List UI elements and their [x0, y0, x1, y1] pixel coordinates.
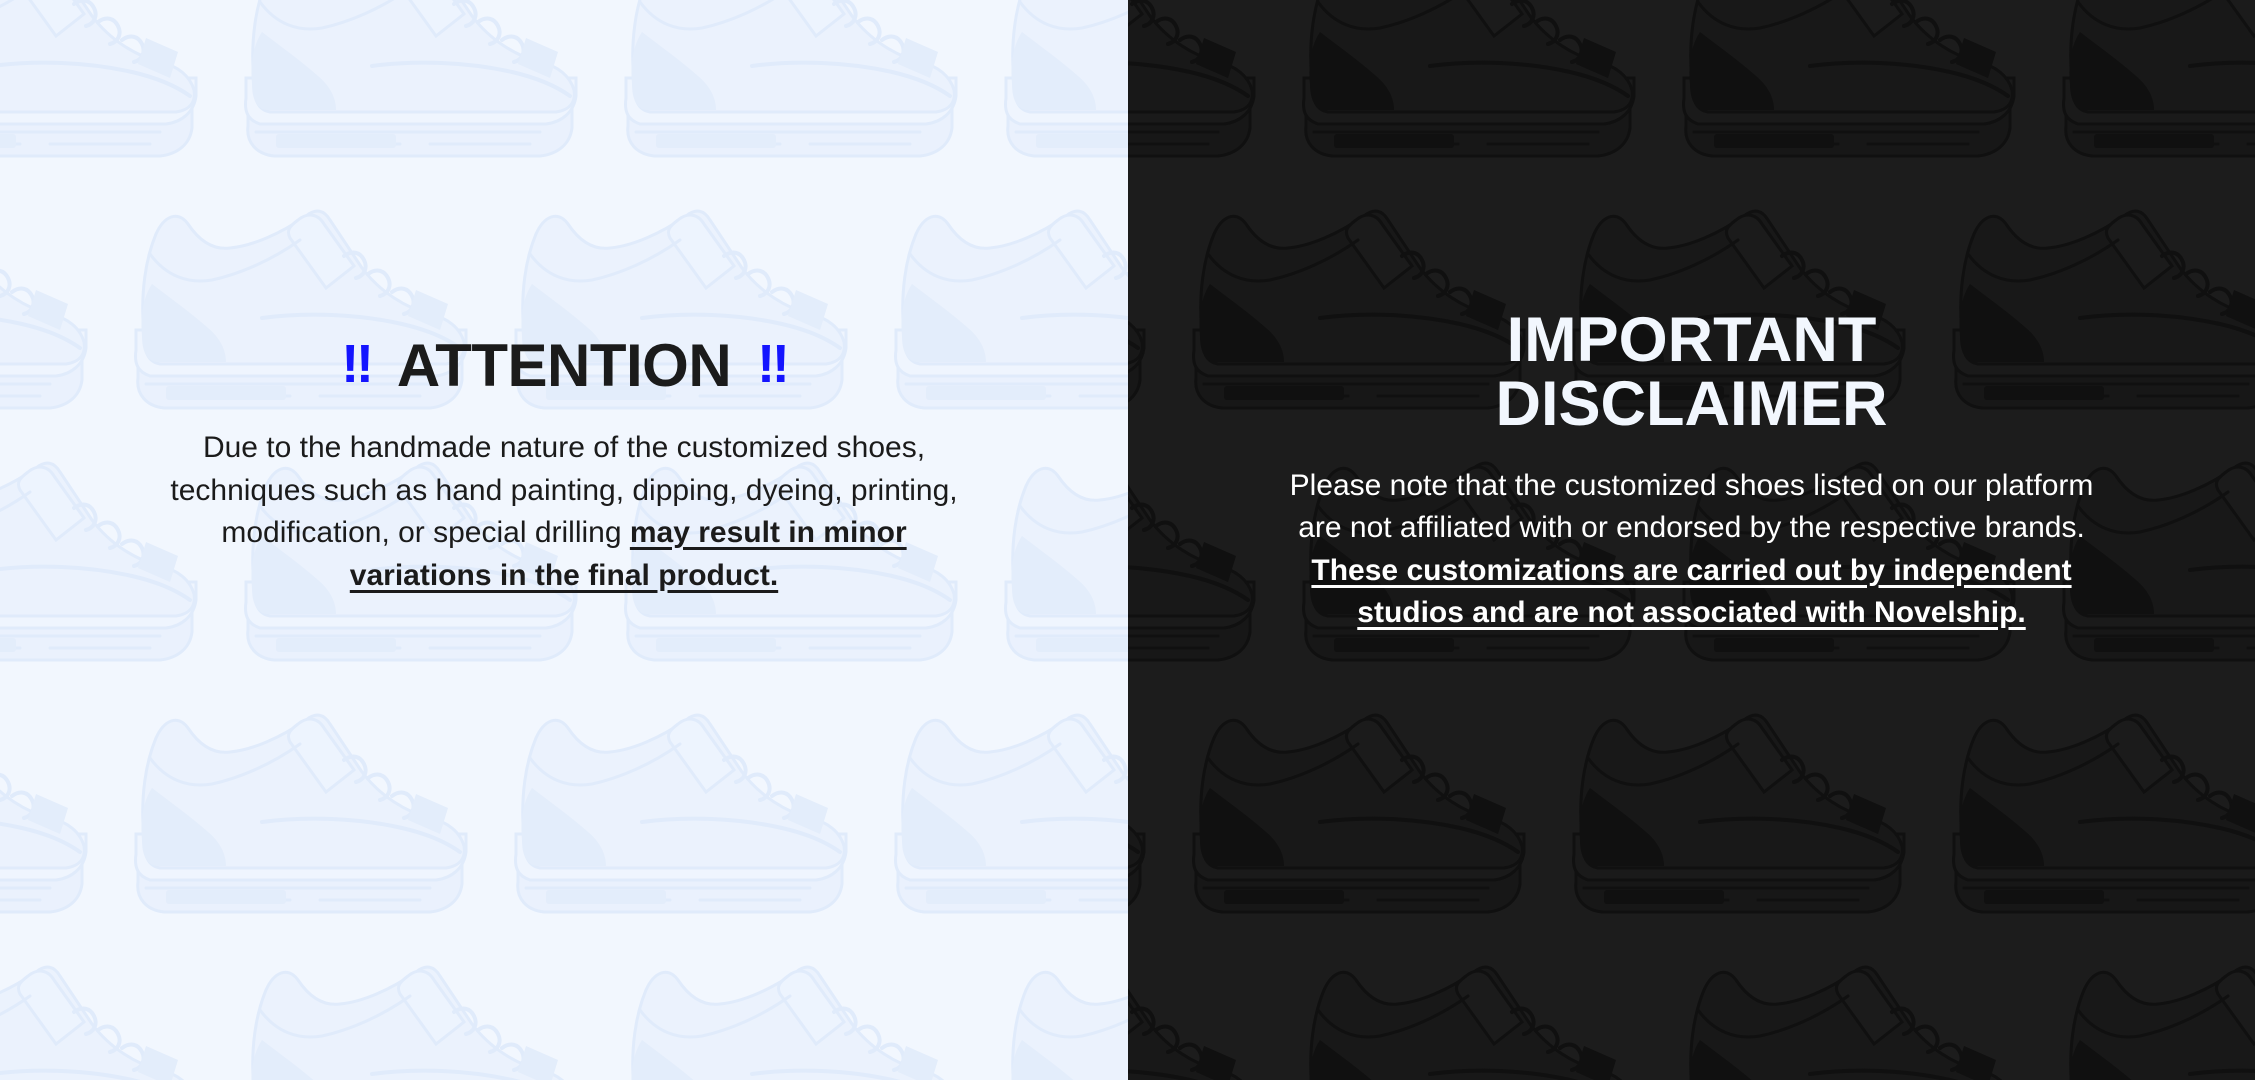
- attention-heading: ‼ ATTENTION ‼: [341, 336, 787, 396]
- disclaimer-content: IMPORTANT DISCLAIMER Please note that th…: [1128, 0, 2255, 635]
- attention-heading-text: ATTENTION: [397, 336, 731, 396]
- attention-body: Due to the handmade nature of the custom…: [169, 427, 959, 597]
- disclaimer-body-plain: Please note that the customized shoes li…: [1290, 469, 2094, 545]
- double-exclamation-left-icon: ‼: [341, 337, 371, 391]
- two-panel-banner: ‼ ATTENTION ‼ Due to the handmade nature…: [0, 0, 2255, 1080]
- attention-content: ‼ ATTENTION ‼ Due to the handmade nature…: [0, 0, 1128, 597]
- double-exclamation-right-icon: ‼: [757, 337, 787, 391]
- disclaimer-body-emphasis: These customizations are carried out by …: [1311, 554, 2071, 630]
- disclaimer-heading: IMPORTANT DISCLAIMER: [1496, 308, 1888, 437]
- disclaimer-heading-line-1: IMPORTANT: [1507, 305, 1877, 375]
- disclaimer-body: Please note that the customized shoes li…: [1287, 465, 2097, 635]
- disclaimer-heading-line-2: DISCLAIMER: [1496, 369, 1888, 439]
- attention-panel: ‼ ATTENTION ‼ Due to the handmade nature…: [0, 0, 1128, 1080]
- disclaimer-panel: IMPORTANT DISCLAIMER Please note that th…: [1128, 0, 2255, 1080]
